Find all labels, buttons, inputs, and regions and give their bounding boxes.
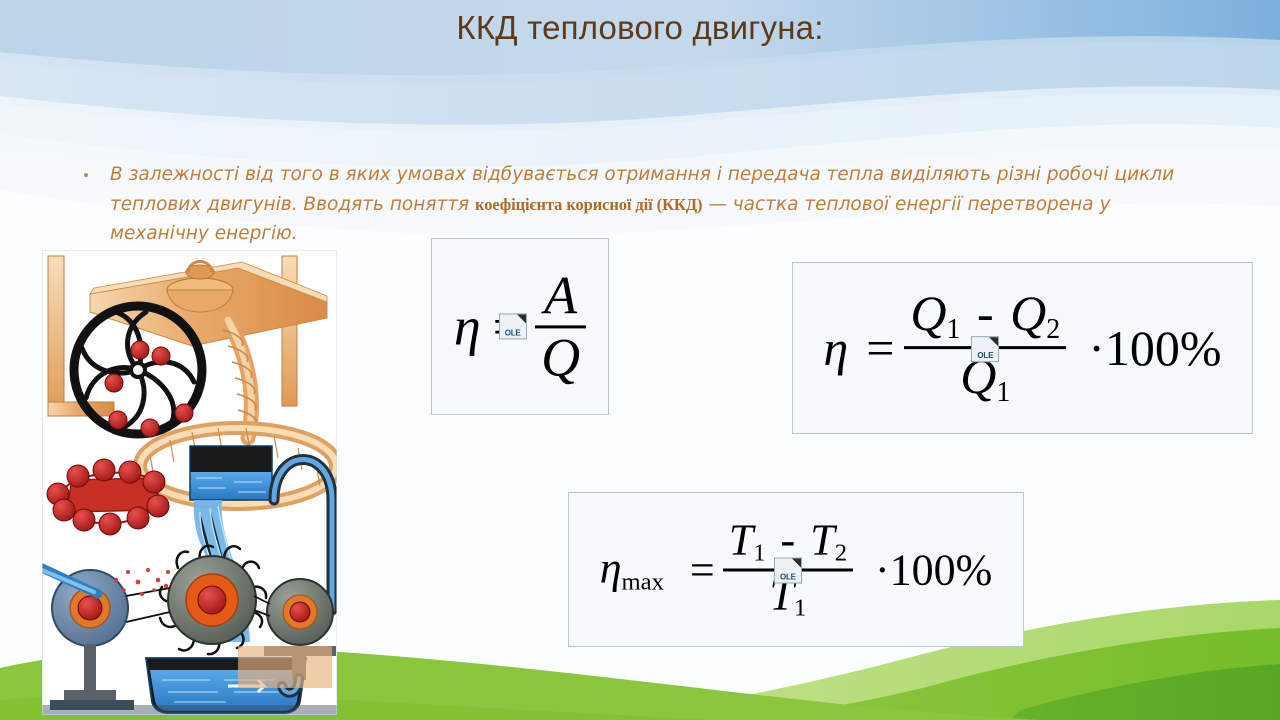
- formula-2-den-q1-subscript: 1: [996, 379, 1010, 408]
- formula-box-eta-q1-q2: η = Q1 - Q2 Q1 OLE ·100%: [792, 262, 1253, 434]
- formula-2-equals: =: [866, 319, 894, 377]
- formula-2-num-q2: Q: [1010, 285, 1046, 341]
- formula-1-fraction: A Q: [535, 268, 586, 385]
- bullet-point-icon: [84, 173, 88, 177]
- ole-fold-corner-icon: [792, 559, 801, 568]
- formula-2-num-q1: Q: [910, 285, 946, 341]
- formula-3-fraction: T1 - T2 T1 OLE: [723, 518, 853, 621]
- formula-3: ηmax = T1 - T2 T1 OLE ·100%: [569, 518, 1023, 621]
- formula-2-num-q2-subscript: 2: [1046, 316, 1060, 345]
- formula-2-minus: -: [977, 285, 994, 341]
- formula-3-eta-subscript: max: [622, 568, 664, 596]
- ole-object-icon-1[interactable]: OLE: [499, 314, 527, 340]
- formula-3-num-t2: T: [810, 515, 834, 564]
- formula-2-num-q1-subscript: 1: [947, 316, 961, 345]
- slide-canvas: ККД теплового двигуна: В залежності від …: [0, 0, 1280, 720]
- formula-3-num-t1-subscript: 1: [753, 541, 765, 566]
- formula-1-eta: η: [454, 296, 481, 358]
- formula-2-eta: η: [823, 319, 848, 377]
- ole-object-icon-2[interactable]: OLE: [971, 336, 999, 362]
- body-paragraph-block: В залежності від того в яких умовах відб…: [84, 160, 1214, 249]
- ole-fold-corner-icon: [989, 337, 998, 346]
- ole-object-icon-3[interactable]: OLE: [774, 558, 802, 584]
- formula-3-num-t2-subscript: 2: [835, 541, 847, 566]
- body-paragraph: В залежності від того в яких умовах відб…: [110, 160, 1214, 249]
- formula-1-denominator: Q: [535, 330, 586, 385]
- formula-3-num-t1: T: [729, 515, 753, 564]
- formula-3-multiplier: ·100%: [875, 544, 992, 595]
- illustration-svg: [42, 250, 337, 715]
- page-title: ККД теплового двигуна:: [0, 6, 1280, 50]
- kkd-term: коефіцієнта корисної дії (ККД): [475, 195, 702, 214]
- formula-2-multiplier: ·100%: [1088, 319, 1221, 377]
- formula-2-fraction: Q1 - Q2 Q1 OLE: [904, 288, 1066, 408]
- formula-3-equals: =: [690, 544, 715, 595]
- formula-box-eta-max-t1-t2: ηmax = T1 - T2 T1 OLE ·100%: [568, 492, 1024, 647]
- formula-box-eta-a-q: η = OLE A Q: [431, 238, 609, 415]
- formula-3-den-t1-subscript: 1: [794, 596, 806, 621]
- ole-fold-corner-icon: [517, 315, 526, 324]
- formula-1-equals: = OLE: [493, 296, 523, 358]
- formula-1-numerator: A: [538, 268, 583, 323]
- perpetual-motion-illustration: [42, 250, 337, 715]
- formula-2: η = Q1 - Q2 Q1 OLE ·100%: [793, 288, 1252, 408]
- formula-1: η = OLE A Q: [432, 268, 608, 385]
- formula-3-eta: ηmax: [600, 543, 664, 597]
